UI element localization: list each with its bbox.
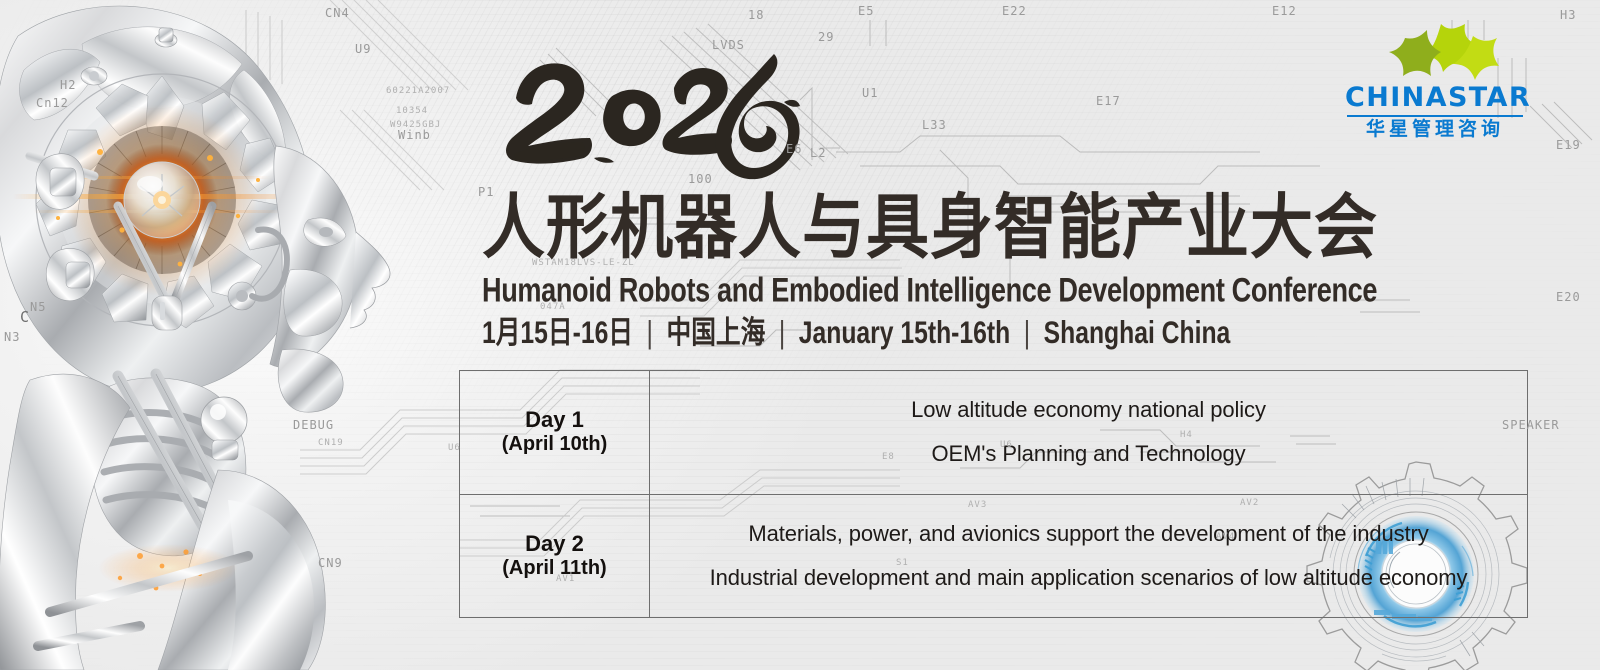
silkscreen-label: CN19	[318, 438, 344, 448]
day1-label-cell: Day 1 (April 10th)	[460, 371, 650, 494]
day1-topic-2: OEM's Planning and Technology	[932, 441, 1246, 467]
silkscreen-label: U6	[1000, 440, 1013, 450]
silkscreen-label: AV3	[968, 500, 987, 510]
silkscreen-label: 29	[818, 30, 834, 44]
chinastar-star-mark-icon	[1345, 22, 1525, 86]
conference-title-chinese: 人形机器人与具身智能产业大会	[482, 192, 1378, 263]
separator-1: |	[640, 314, 660, 350]
silkscreen-label: E6	[786, 142, 802, 156]
year-2026-calligraphy	[498, 46, 808, 186]
silkscreen-label: L33	[922, 118, 947, 132]
silkscreen-label: AV1	[556, 574, 575, 584]
humanoid-robot-illustration	[0, 0, 460, 670]
silkscreen-label: Cn12	[36, 96, 69, 110]
city-chinese: 中国上海	[666, 314, 765, 350]
day2-name: Day 2	[525, 531, 584, 557]
separator-3: |	[1017, 314, 1037, 350]
silkscreen-label: N5	[30, 300, 46, 314]
silkscreen-label: Winb	[398, 128, 431, 142]
silkscreen-label: 100	[688, 172, 713, 186]
date-location-line: 1月15日-16日 | 中国上海 | January 15th-16th | S…	[482, 308, 1230, 352]
conference-title-english: Humanoid Robots and Embodied Intelligenc…	[482, 272, 1377, 311]
agenda-row-day2: Day 2 (April 11th) Materials, power, and…	[460, 495, 1527, 618]
silkscreen-label: L2	[810, 146, 826, 160]
silkscreen-label: DEBUG	[293, 418, 334, 432]
day2-label-cell: Day 2 (April 11th)	[460, 495, 650, 618]
silkscreen-label: H2	[60, 78, 76, 92]
day2-topic-2: Industrial development and main applicat…	[710, 565, 1468, 591]
day2-topics-cell: Materials, power, and avionics support t…	[650, 495, 1527, 618]
day1-topics-cell: Low altitude economy national policy OEM…	[650, 371, 1527, 494]
silkscreen-label: U9	[355, 42, 371, 56]
silkscreen-label: CN9	[318, 556, 343, 570]
silkscreen-label: E8	[882, 452, 895, 462]
silkscreen-label: N3	[4, 330, 20, 344]
silkscreen-label: U1	[862, 86, 878, 100]
agenda-row-day1: Day 1 (April 10th) Low altitude economy …	[460, 371, 1527, 495]
separator-2: |	[772, 314, 792, 350]
silkscreen-label: H3	[1560, 8, 1576, 22]
silkscreen-label: LVDS	[712, 38, 745, 52]
silkscreen-label: 18	[748, 8, 764, 22]
date-english: January 15th-16th	[799, 314, 1010, 350]
silkscreen-label: E19	[1556, 138, 1581, 152]
silkscreen-label: E5	[858, 4, 874, 18]
day2-topic-1: Materials, power, and avionics support t…	[748, 521, 1428, 547]
silkscreen-label: SPEAKER	[1502, 418, 1560, 432]
silkscreen-label: AV4	[1216, 532, 1235, 542]
logo-underline	[1347, 115, 1523, 117]
silkscreen-label: E22	[1002, 4, 1027, 18]
conference-banner: CHINASTAR 华星管理咨询 人形机器人与具身智能产业大会 Humano	[0, 0, 1600, 670]
day1-topic-1: Low altitude economy national policy	[911, 397, 1266, 423]
agenda-table: Day 1 (April 10th) Low altitude economy …	[459, 370, 1528, 618]
silkscreen-label: 047A	[540, 302, 566, 312]
silkscreen-label: C	[20, 308, 32, 326]
silkscreen-label: H4	[1180, 430, 1193, 440]
logo-chinese-name: 华星管理咨询	[1345, 119, 1525, 142]
chinastar-logo: CHINASTAR 华星管理咨询	[1345, 26, 1525, 144]
date-chinese: 1月15日-16日	[482, 314, 633, 350]
silkscreen-label: WSTAM18LVS-LE-ZL	[532, 258, 635, 268]
silkscreen-label: AV2	[1240, 498, 1259, 508]
day2-date: (April 11th)	[502, 557, 606, 581]
silkscreen-label: P1	[478, 185, 494, 199]
day1-date: (April 10th)	[502, 433, 608, 457]
silkscreen-label: 60221A2007	[386, 86, 450, 96]
silkscreen-label: CN4	[325, 6, 350, 20]
silkscreen-label: E17	[1096, 94, 1121, 108]
day1-name: Day 1	[525, 407, 584, 433]
silkscreen-label: U6	[448, 443, 461, 453]
silkscreen-label: 10354	[396, 106, 428, 116]
city-english: Shanghai China	[1044, 314, 1231, 350]
silkscreen-label: S1	[896, 558, 909, 568]
silkscreen-label: E20	[1556, 290, 1581, 304]
logo-wordmark: CHINASTAR	[1345, 84, 1525, 111]
silkscreen-label: E12	[1272, 4, 1297, 18]
